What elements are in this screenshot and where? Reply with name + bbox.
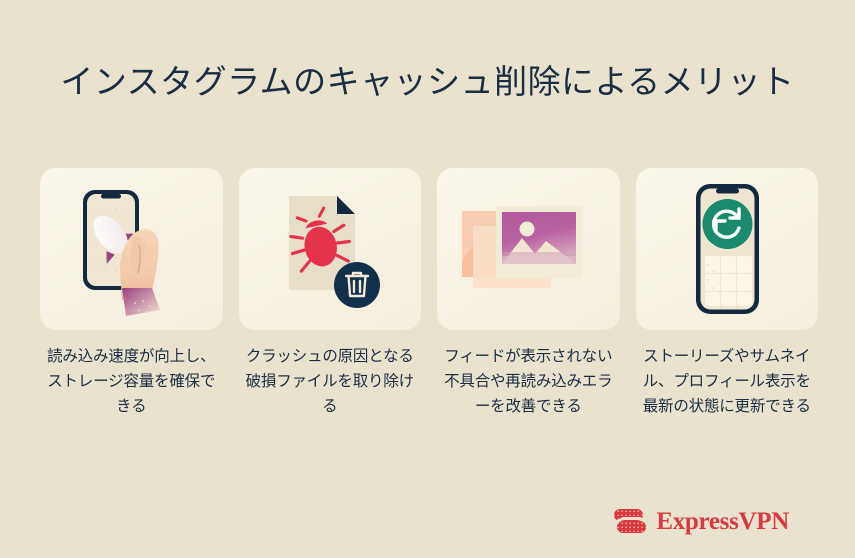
benefit-card-2 [239, 168, 422, 330]
benefit-card-3 [437, 168, 620, 330]
phone-refresh-grid-illustration [636, 168, 819, 330]
benefit-card-row [40, 168, 818, 330]
expressvpn-logo-icon [613, 506, 647, 536]
infographic-page: インスタグラムのキャッシュ削除によるメリット [0, 0, 855, 558]
refresh-badge [702, 199, 752, 249]
expressvpn-logo-text: ExpressVPN [656, 509, 789, 534]
benefit-caption-4: ストーリーズやサムネイル、プロフィール表示を最新の状態に更新できる [636, 344, 819, 419]
phone-rocket-illustration [40, 168, 223, 330]
trash-badge [334, 262, 380, 308]
photo-stack-illustration [437, 168, 620, 330]
benefit-card-1 [40, 168, 223, 330]
page-title: インスタグラムのキャッシュ削除によるメリット [0, 62, 855, 102]
corrupt-file-bug-trash-illustration [239, 168, 422, 330]
benefit-card-4 [636, 168, 819, 330]
benefit-caption-row: 読み込み速度が向上し、ストレージ容量を確保できる クラッシュの原因となる破損ファ… [40, 344, 818, 419]
benefit-caption-3: フィードが表示されない不具合や再読み込みエラーを改善できる [437, 344, 620, 419]
benefit-caption-2: クラッシュの原因となる破損ファイルを取り除ける [239, 344, 422, 419]
expressvpn-logo: ExpressVPN [613, 506, 789, 536]
benefit-caption-1: 読み込み速度が向上し、ストレージ容量を確保できる [40, 344, 223, 419]
